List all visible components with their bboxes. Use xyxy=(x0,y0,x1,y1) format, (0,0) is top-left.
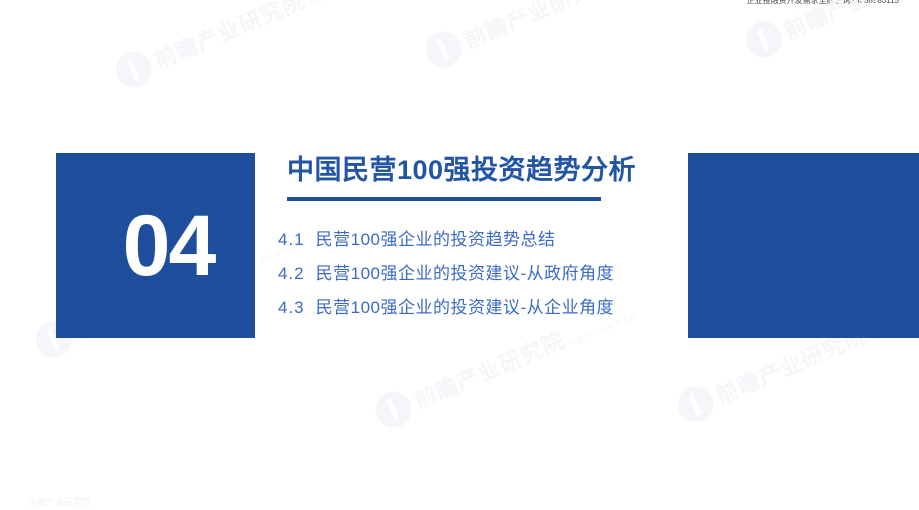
list-item[interactable]: 4.1 民营100强企业的投资趋势总结 xyxy=(278,223,678,257)
section-number-block: 04 xyxy=(56,153,255,338)
toc-item-label: 民营100强企业的投资建议-从企业角度 xyxy=(316,291,615,325)
right-accent-block xyxy=(688,153,919,338)
page-title: 中国民营100强投资趋势分析 xyxy=(287,152,678,188)
watermark-word: 前瞻产业研究院 xyxy=(459,0,620,55)
header-strip: 企业投融资开发需求至约咨询13388980113 xyxy=(0,0,919,7)
toc-item-label: 民营100强企业的投资趋势总结 xyxy=(316,223,556,257)
title-underline xyxy=(287,197,601,201)
watermark-mark: 前瞻产业研究院 中国产业咨询领导者 xyxy=(420,0,690,73)
list-item[interactable]: 4.2 民营100强企业的投资建议-从政府角度 xyxy=(278,257,678,291)
watermark-word: 前瞻产业研究院 xyxy=(149,0,310,75)
watermark-mark: 前瞻产业研究院 中国产业咨询领导者 xyxy=(740,0,919,63)
list-item[interactable]: 4.3 民营100强企业的投资建议-从企业角度 xyxy=(278,291,678,325)
header-contact-note: 企业投融资开发需求至约咨询13388980113 xyxy=(747,0,899,6)
toc-item-number: 4.1 xyxy=(278,223,305,257)
toc-item-number: 4.2 xyxy=(278,257,305,291)
slide-content: 中国民营100强投资趋势分析 4.1 民营100强企业的投资趋势总结 4.2 民… xyxy=(278,152,678,325)
watermark-logo-icon xyxy=(370,386,417,433)
watermark-logo-icon xyxy=(420,26,467,73)
slide-canvas: 企业投融资开发需求至约咨询13388980113 前瞻产业研究院 中国产业咨询领… xyxy=(0,0,919,510)
table-of-contents: 4.1 民营100强企业的投资趋势总结 4.2 民营100强企业的投资建议-从政… xyxy=(278,223,678,325)
watermark-logo-icon xyxy=(740,16,787,63)
toc-item-number: 4.3 xyxy=(278,291,305,325)
footer-note: 前瞻产业研究院 xyxy=(28,495,91,508)
section-number: 04 xyxy=(97,203,215,289)
watermark-word: 前瞻产业研究院 xyxy=(409,323,570,415)
watermark-mark: 前瞻产业研究院 中国产业咨询领导者 xyxy=(110,0,380,93)
watermark-logo-icon xyxy=(110,46,157,93)
toc-item-label: 民营100强企业的投资建议-从政府角度 xyxy=(316,257,615,291)
watermark-logo-icon xyxy=(672,381,719,428)
